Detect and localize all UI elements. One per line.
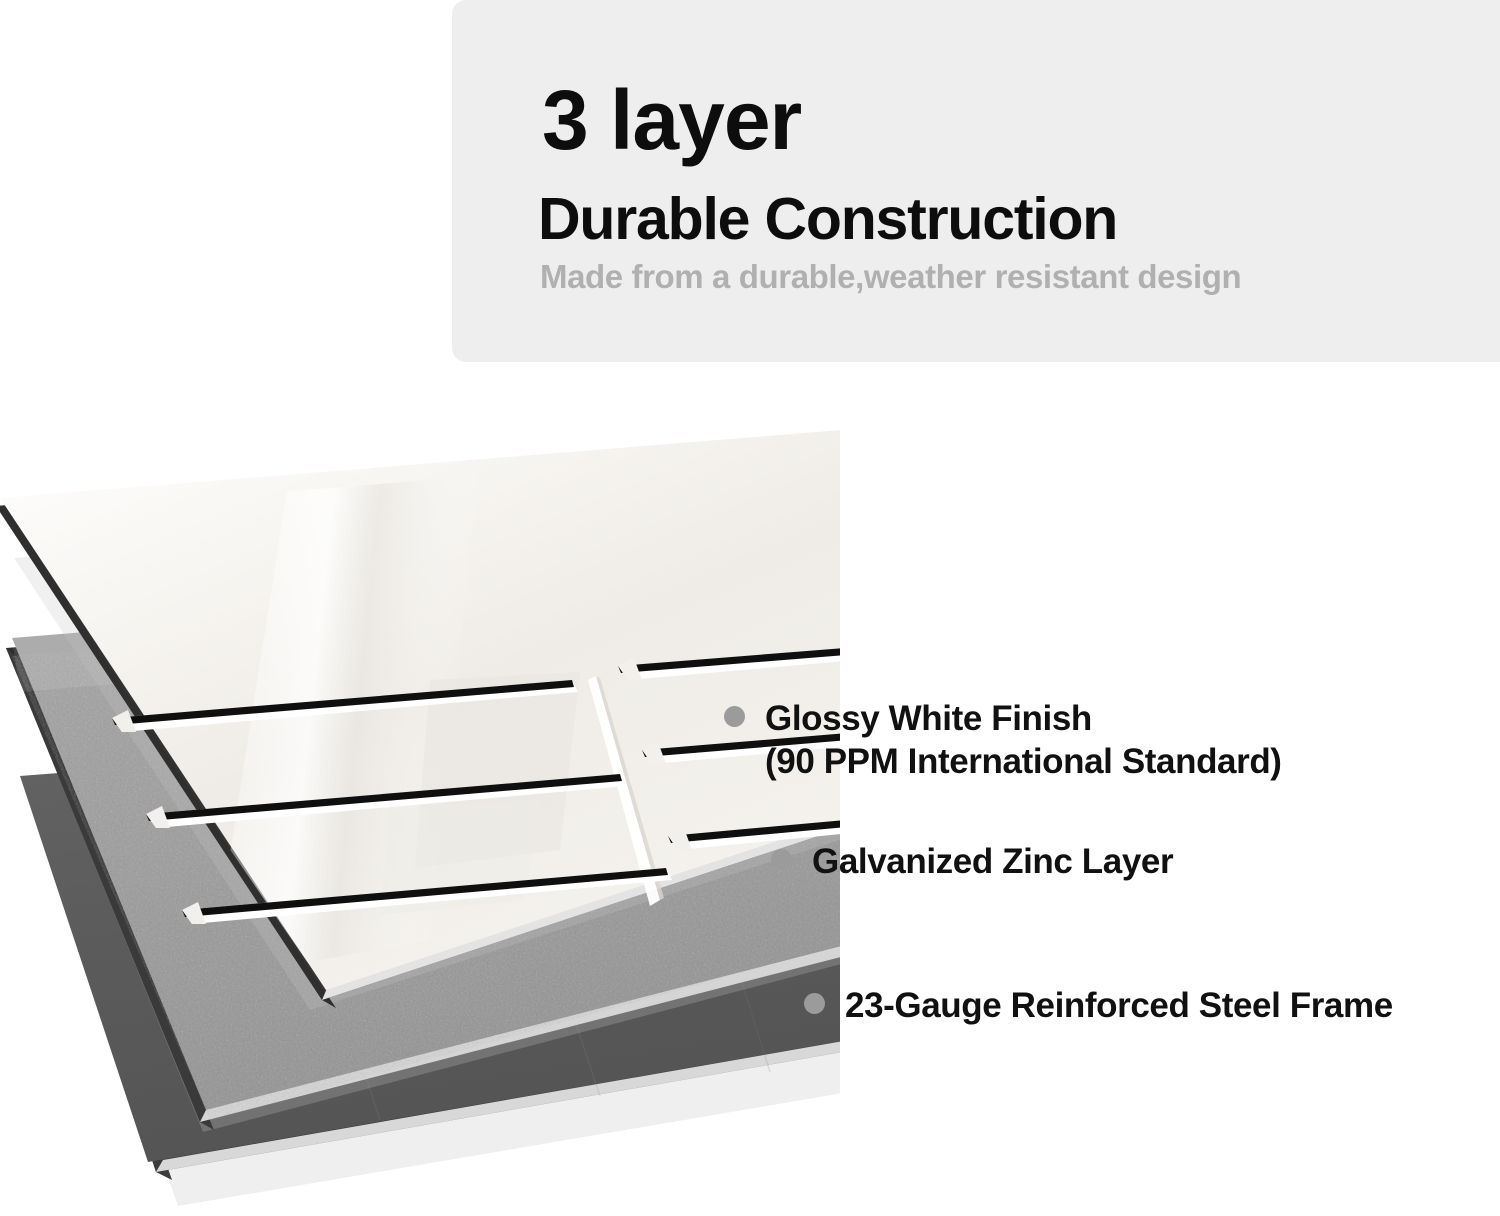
callout-label: 23-Gauge Reinforced Steel Frame xyxy=(845,984,1393,1027)
callout-galvanized-zinc-layer: Galvanized Zinc Layer xyxy=(771,840,1173,883)
page-headline: 3 layer xyxy=(542,78,801,162)
page-tagline: Made from a durable,weather resistant de… xyxy=(540,260,1241,293)
callout-label: Glossy White Finish (90 PPM Internationa… xyxy=(765,697,1282,784)
bullet-dot-icon xyxy=(804,993,825,1014)
page-subheadline: Durable Construction xyxy=(538,190,1117,249)
bullet-dot-icon xyxy=(771,849,792,870)
callout-label: Galvanized Zinc Layer xyxy=(812,840,1173,883)
layer-stack-illustration xyxy=(0,380,820,1216)
callout-glossy-white-finish: Glossy White Finish (90 PPM Internationa… xyxy=(724,697,1282,784)
exploded-layers-svg xyxy=(0,380,840,1216)
header-panel: 3 layer Durable Construction Made from a… xyxy=(452,0,1500,362)
callout-reinforced-steel-frame: 23-Gauge Reinforced Steel Frame xyxy=(804,984,1393,1027)
bullet-dot-icon xyxy=(724,706,745,727)
